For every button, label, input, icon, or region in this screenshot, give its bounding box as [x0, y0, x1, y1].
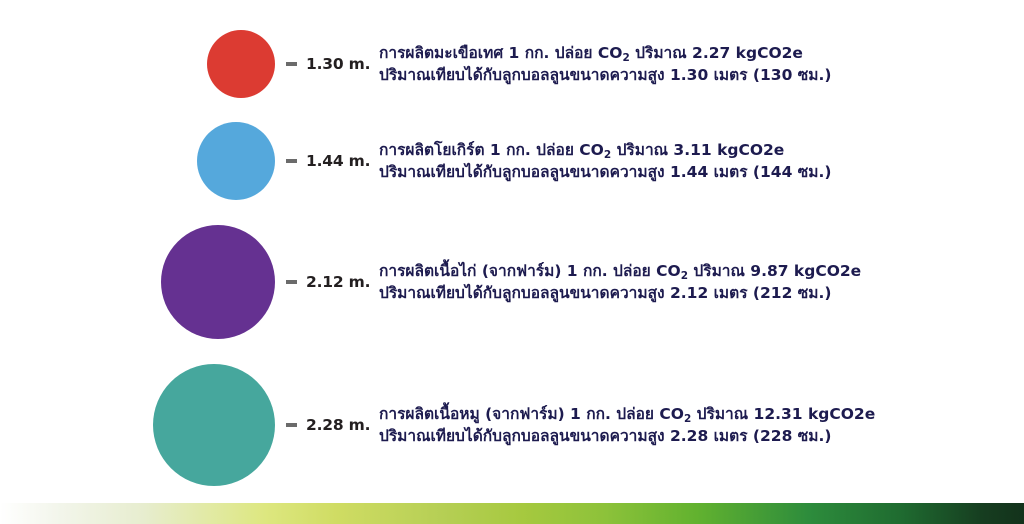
bracket-cap-top-icon	[286, 282, 297, 284]
bracket-cap-top-icon	[286, 64, 297, 66]
description-line-1: การผลิตมะเขือเทศ 1 กก. ปล่อย CO2 ปริมาณ …	[379, 42, 999, 64]
measure-bracket-container	[286, 225, 297, 339]
balloon-comparison-list: 1.30 m. การผลิตมะเขือเทศ 1 กก. ปล่อย CO2…	[0, 0, 1024, 500]
list-item: 1.44 m. การผลิตโยเกิร์ต 1 กก. ปล่อย CO2 …	[0, 122, 1024, 200]
description-line-1-suffix: ปริมาณ 12.31 kgCO2e	[691, 405, 875, 423]
balloon-circle-chicken	[161, 225, 275, 339]
description-line-1-prefix: การผลิตเนื้อไก่ (จากฟาร์ม) 1 กก. ปล่อย C…	[379, 262, 681, 280]
description-line-1-suffix: ปริมาณ 3.11 kgCO2e	[611, 141, 784, 159]
balloon-circle-container	[0, 122, 275, 200]
description-line-1-prefix: การผลิตเนื้อหมู (จากฟาร์ม) 1 กก. ปล่อย C…	[379, 405, 684, 423]
description-line-1: การผลิตเนื้อไก่ (จากฟาร์ม) 1 กก. ปล่อย C…	[379, 260, 999, 282]
list-item: 2.12 m. การผลิตเนื้อไก่ (จากฟาร์ม) 1 กก.…	[0, 225, 1024, 339]
description-line-2: ปริมาณเทียบได้กับลูกบอลลูนขนาดความสูง 2.…	[379, 425, 999, 447]
measure-bracket-container	[286, 364, 297, 486]
description-block: การผลิตโยเกิร์ต 1 กก. ปล่อย CO2 ปริมาณ 3…	[379, 139, 999, 183]
description-line-1-suffix: ปริมาณ 2.27 kgCO2e	[630, 44, 803, 62]
gradient-fill	[0, 503, 1024, 524]
description-line-1-prefix: การผลิตโยเกิร์ต 1 กก. ปล่อย CO	[379, 141, 604, 159]
co2-subscript: 2	[604, 149, 611, 161]
footer-gradient-bar	[0, 503, 1024, 524]
list-item: 1.30 m. การผลิตมะเขือเทศ 1 กก. ปล่อย CO2…	[0, 14, 1024, 114]
balloon-circle-pork	[153, 364, 275, 486]
description-block: การผลิตเนื้อหมู (จากฟาร์ม) 1 กก. ปล่อย C…	[379, 403, 999, 447]
description-line-1-prefix: การผลิตมะเขือเทศ 1 กก. ปล่อย CO	[379, 44, 622, 62]
balloon-circle-container	[0, 14, 275, 114]
co2-subscript: 2	[622, 52, 629, 64]
description-line-1: การผลิตโยเกิร์ต 1 กก. ปล่อย CO2 ปริมาณ 3…	[379, 139, 999, 161]
description-line-2: ปริมาณเทียบได้กับลูกบอลลูนขนาดความสูง 1.…	[379, 161, 999, 183]
measure-bracket-container	[286, 122, 297, 200]
description-line-1-suffix: ปริมาณ 9.87 kgCO2e	[688, 262, 861, 280]
list-item: 2.28 m. การผลิตเนื้อหมู (จากฟาร์ม) 1 กก.…	[0, 364, 1024, 486]
co2-subscript: 2	[681, 270, 688, 282]
bracket-cap-bottom-icon	[286, 159, 297, 161]
balloon-circle-container	[0, 364, 275, 486]
bracket-cap-bottom-icon	[286, 280, 297, 282]
balloon-circle-yogurt	[197, 122, 275, 200]
infographic-root: 1.30 m. การผลิตมะเขือเทศ 1 กก. ปล่อย CO2…	[0, 0, 1024, 524]
description-line-2: ปริมาณเทียบได้กับลูกบอลลูนขนาดความสูง 1.…	[379, 64, 999, 86]
measure-bracket-container	[286, 30, 297, 98]
measure-label: 1.44 m.	[306, 152, 370, 170]
description-line-1: การผลิตเนื้อหมู (จากฟาร์ม) 1 กก. ปล่อย C…	[379, 403, 999, 425]
measure-label: 1.30 m.	[306, 55, 370, 73]
bracket-cap-bottom-icon	[286, 62, 297, 64]
bracket-cap-top-icon	[286, 161, 297, 163]
description-block: การผลิตเนื้อไก่ (จากฟาร์ม) 1 กก. ปล่อย C…	[379, 260, 999, 304]
description-line-2: ปริมาณเทียบได้กับลูกบอลลูนขนาดความสูง 2.…	[379, 282, 999, 304]
measure-label: 2.28 m.	[306, 416, 370, 434]
balloon-circle-tomato	[207, 30, 275, 98]
co2-subscript: 2	[684, 413, 691, 425]
description-block: การผลิตมะเขือเทศ 1 กก. ปล่อย CO2 ปริมาณ …	[379, 42, 999, 86]
bracket-cap-bottom-icon	[286, 423, 297, 425]
measure-label: 2.12 m.	[306, 273, 370, 291]
balloon-circle-container	[0, 225, 275, 339]
bracket-cap-top-icon	[286, 425, 297, 427]
